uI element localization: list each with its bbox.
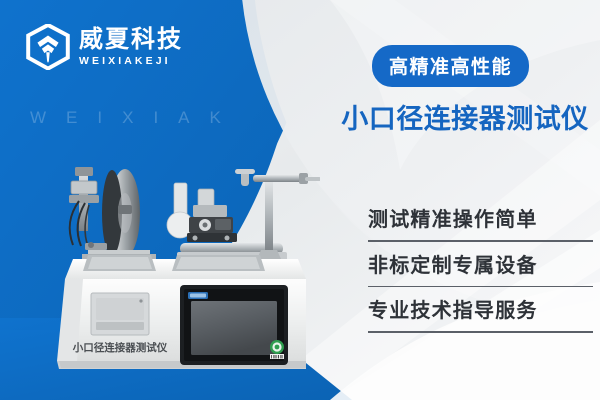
feature-item: 专业技术指导服务 [368, 287, 593, 333]
feature-label: 专业技术指导服务 [368, 287, 593, 331]
hero-headline: 小口径连接器测试仪 [330, 97, 600, 136]
feature-divider [368, 331, 593, 333]
feature-item: 非标定制专属设备 [368, 242, 593, 288]
feature-item: 测试精准操作简单 [368, 196, 593, 242]
feature-label: 测试精准操作简单 [368, 196, 593, 240]
green-certification-sticker-icon [270, 340, 284, 359]
machine-front-label: 小口径连接器测试仪 [72, 341, 168, 354]
feature-label: 非标定制专属设备 [368, 242, 593, 286]
feature-list: 测试精准操作简单 非标定制专属设备 专业技术指导服务 [368, 196, 593, 333]
hero-badge: 高精准高性能 [372, 45, 529, 87]
brand-logo: 威夏科技 WEIXIAKEJI [26, 24, 183, 70]
banner-canvas: 威夏科技 WEIXIAKEJI WEIXIAK [0, 0, 600, 400]
brand-name-cn: 威夏科技 [79, 28, 183, 52]
hexagon-arrow-logo-icon [26, 24, 70, 70]
product-machine-illustration: 小口径连接器测试仪 [55, 155, 320, 380]
hero-text-column: 高精准高性能 小口径连接器测试仪 测试精准操作简单 非标定制专属设备 专业技术指… [330, 0, 600, 400]
brand-name-en: WEIXIAKEJI [79, 56, 183, 67]
watermark-text: WEIXIAK [30, 108, 241, 128]
